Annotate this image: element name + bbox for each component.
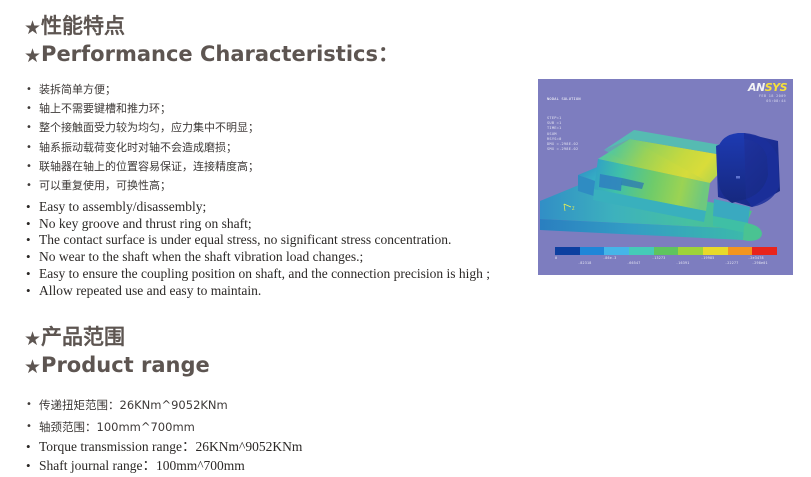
contour-legend: 0 .82318 .86e-3 .66547 .13273 .16391 .19… (555, 247, 777, 267)
list-item: 装拆简单方便； (26, 80, 259, 99)
star-icon: ★ (24, 43, 41, 70)
list-item: Easy to ensure the coupling position on … (26, 266, 490, 283)
list-item-text: 可以重复使用，可换性高； (39, 179, 171, 192)
ansys-logo-part2: SYS (765, 81, 787, 94)
ansys-logo-part1: AN (748, 81, 765, 94)
list-item: 联轴器在轴上的位置容易保证，连接精度高； (26, 157, 259, 176)
fea-solution-info: NODAL SOLUTION STEP=1 SUB =1 TIME=1 USUM… (547, 87, 581, 163)
fea-solution-title: NODAL SOLUTION (547, 97, 581, 102)
list-item: The contact surface is under equal stres… (26, 232, 490, 249)
list-item: Allow repeated use and easy to maintain. (26, 283, 490, 300)
list-item-text: Torque transmission range：26KNm^9052KNm (39, 439, 302, 454)
list-item-text: 轴上不需要键槽和推力环； (39, 102, 171, 115)
legend-label: .16391 (676, 261, 689, 265)
legend-swatch (580, 247, 605, 255)
list-item-text: Allow repeated use and easy to maintain. (39, 283, 261, 298)
fea-timestamp: FEB 18 2009 05:08:44 (759, 94, 786, 104)
legend-swatch (555, 247, 580, 255)
star-icon: ★ (24, 327, 41, 352)
performance-heading-en-text: Performance Characteristics： (41, 42, 399, 66)
performance-bullets-en: Easy to assembly/disassembly; No key gro… (26, 199, 490, 299)
list-item-text: 整个接触面受力较为均匀，应力集中不明显； (39, 121, 259, 134)
legend-label: .82318 (578, 261, 591, 265)
list-item: 轴上不需要键槽和推力环； (26, 99, 259, 118)
list-item-text: Easy to ensure the coupling position on … (39, 266, 490, 281)
star-icon: ★ (24, 16, 41, 41)
product-range-heading-cn: ★产品范围 (24, 325, 210, 352)
list-item-text: The contact surface is under equal stres… (39, 232, 451, 247)
legend-swatch (629, 247, 654, 255)
fea-contour-figure: Z ANSYS FEB 18 2009 05:08:44 NODAL SOLUT… (538, 79, 793, 275)
list-item: No wear to the shaft when the shaft vibr… (26, 249, 490, 266)
legend-label: .298e01 (752, 261, 768, 265)
product-range-heading-en: ★Product range (24, 352, 210, 381)
fea-solution-params: STEP=1 SUB =1 TIME=1 USUM RSYS=0 DMX =.2… (547, 116, 581, 152)
performance-heading-en: ★Performance Characteristics： (24, 41, 399, 70)
list-item-text: 装拆简单方便； (39, 83, 116, 96)
legend-swatch (728, 247, 753, 255)
legend-swatch (752, 247, 777, 255)
legend-label: .86e-3 (603, 256, 616, 260)
performance-heading-cn: ★性能特点 (24, 14, 399, 41)
legend-label: .2e3478 (748, 256, 764, 260)
list-item-text: 传递扭矩范围：26KNm^9052KNm (39, 398, 228, 412)
list-item: No key groove and thrust ring on shaft; (26, 216, 490, 233)
list-item: 传递扭矩范围：26KNm^9052KNm (26, 394, 228, 416)
list-item: Torque transmission range：26KNm^9052KNm (26, 437, 302, 456)
list-item-text: Shaft journal range：100mm^700mm (39, 458, 245, 473)
list-item: Shaft journal range：100mm^700mm (26, 456, 302, 475)
performance-bullets-cn: 装拆简单方便； 轴上不需要键槽和推力环； 整个接触面受力较为均匀，应力集中不明显… (26, 80, 259, 195)
performance-heading-group: ★性能特点 ★Performance Characteristics： (24, 14, 399, 70)
product-range-heading-cn-text: 产品范围 (41, 325, 125, 349)
legend-label: .13273 (652, 256, 665, 260)
list-item-text: 联轴器在轴上的位置容易保证，连接精度高； (39, 160, 259, 173)
legend-label: 0 (555, 256, 557, 260)
contour-legend-labels: 0 .82318 .86e-3 .66547 .13273 .16391 .19… (555, 255, 777, 267)
ansys-logo: ANSYS (748, 82, 787, 93)
performance-heading-cn-text: 性能特点 (41, 14, 125, 38)
product-range-bullets-cn: 传递扭矩范围：26KNm^9052KNm 轴颈范围：100mm^700mm (26, 394, 228, 438)
list-item: 轴颈范围：100mm^700mm (26, 416, 228, 438)
list-item: 整个接触面受力较为均匀，应力集中不明显； (26, 118, 259, 137)
list-item-text: Easy to assembly/disassembly; (39, 199, 206, 214)
legend-label: .22277 (725, 261, 738, 265)
product-range-heading-en-text: Product range (41, 353, 210, 377)
list-item: Easy to assembly/disassembly; (26, 199, 490, 216)
legend-label: .66547 (627, 261, 640, 265)
legend-swatch (703, 247, 728, 255)
product-range-heading-group: ★产品范围 ★Product range (24, 325, 210, 381)
legend-swatch (654, 247, 679, 255)
slide-page: ★性能特点 ★Performance Characteristics： 装拆简单… (0, 0, 811, 477)
list-item: 轴系振动载荷变化时对轴不会造成磨损； (26, 138, 259, 157)
list-item-text: No wear to the shaft when the shaft vibr… (39, 249, 363, 264)
product-range-bullets-en: Torque transmission range：26KNm^9052KNm … (26, 437, 302, 475)
legend-swatch (604, 247, 629, 255)
list-item: 可以重复使用，可换性高； (26, 176, 259, 195)
legend-swatch (678, 247, 703, 255)
star-icon: ★ (24, 354, 41, 381)
list-item-text: No key groove and thrust ring on shaft; (39, 216, 252, 231)
list-item-text: 轴系振动载荷变化时对轴不会造成磨损； (39, 141, 237, 154)
legend-label: .19985 (701, 256, 714, 260)
list-item-text: 轴颈范围：100mm^700mm (39, 420, 195, 434)
contour-legend-bar (555, 247, 777, 255)
